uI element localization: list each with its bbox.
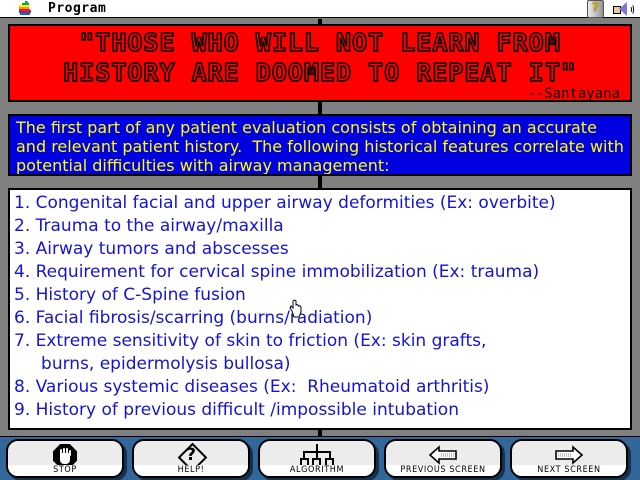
help-badge-label: ?: [588, 0, 603, 14]
next-screen-button[interactable]: NEXT SCREEN: [510, 439, 628, 478]
next-screen-button-label: NEXT SCREEN: [512, 465, 626, 476]
stop-button-label: STOP: [8, 465, 122, 476]
quote-attribution: --Santayana: [10, 86, 630, 102]
list-item: 7. Extreme sensitivity of skin to fricti…: [14, 330, 630, 376]
help-button[interactable]: ? HELP!: [132, 439, 250, 478]
stop-button[interactable]: STOP: [6, 439, 124, 478]
speaker-icon[interactable]: [612, 1, 634, 17]
window-title-bar: Program ?: [0, 0, 640, 18]
quote-banner: "THOSE WHO WILL NOT LEARN FROM HISTORY A…: [8, 24, 632, 102]
list-item: 3. Airway tumors and abscesses: [14, 238, 630, 261]
list-item: 5. History of C-Spine fusion: [14, 284, 630, 307]
apple-logo-icon[interactable]: [18, 1, 32, 16]
list-item: 4. Requirement for cervical spine immobi…: [14, 261, 630, 284]
intro-panel: The first part of any patient evaluation…: [8, 114, 632, 176]
help-badge-icon[interactable]: ?: [587, 0, 604, 18]
list-item: 2. Trauma to the airway/maxilla: [14, 215, 630, 238]
algorithm-button-label: ALGORITHM: [260, 465, 374, 476]
history-features-list: 1. Congenital facial and upper airway de…: [8, 188, 632, 430]
help-button-label: HELP!: [134, 465, 248, 476]
window-title: Program: [48, 1, 106, 16]
list-item: 8. Various systemic diseases (Ex: Rheuma…: [14, 376, 630, 399]
list-item: 6. Facial fibrosis/scarring (burns/radia…: [14, 307, 630, 330]
intro-text: The first part of any patient evaluation…: [16, 118, 624, 175]
bottom-toolbar: STOP ? HELP! ALGORITHM: [0, 436, 640, 480]
previous-screen-button-label: PREVIOUS SCREEN: [386, 465, 500, 476]
previous-screen-button[interactable]: PREVIOUS SCREEN: [384, 439, 502, 478]
quote-line-1: "THOSE WHO WILL NOT LEARN FROM: [10, 29, 630, 56]
algorithm-button[interactable]: ALGORITHM: [258, 439, 376, 478]
list-item: 9. History of previous difficult /imposs…: [14, 399, 630, 422]
quote-line-2: HISTORY ARE DOOMED TO REPEAT IT": [10, 59, 630, 86]
list-item: 1. Congenital facial and upper airway de…: [14, 192, 630, 215]
